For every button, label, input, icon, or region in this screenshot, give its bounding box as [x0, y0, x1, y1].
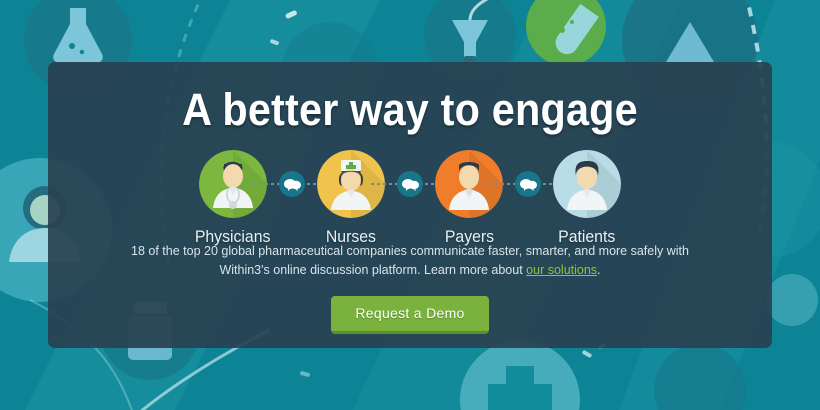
- chat-bubbles-icon: [515, 171, 541, 197]
- chat-bubbles-icon: [397, 171, 423, 197]
- hero-panel: A better way to engage Physicians: [48, 62, 772, 348]
- persona-row: Physicians: [48, 150, 772, 247]
- our-solutions-link[interactable]: our solutions: [526, 263, 597, 277]
- request-demo-button[interactable]: Request a Demo: [331, 296, 488, 334]
- decor-circle: [766, 274, 818, 326]
- cta-container: Request a Demo: [48, 296, 772, 334]
- hero-description: 18 of the top 20 global pharmaceutical c…: [116, 242, 704, 280]
- blurb-text-before: 18 of the top 20 global pharmaceutical c…: [131, 244, 689, 277]
- page-title: A better way to engage: [77, 84, 743, 136]
- blurb-text-after: .: [597, 263, 600, 277]
- chat-bubbles-icon: [279, 171, 305, 197]
- patient-avatar-icon: [553, 150, 621, 218]
